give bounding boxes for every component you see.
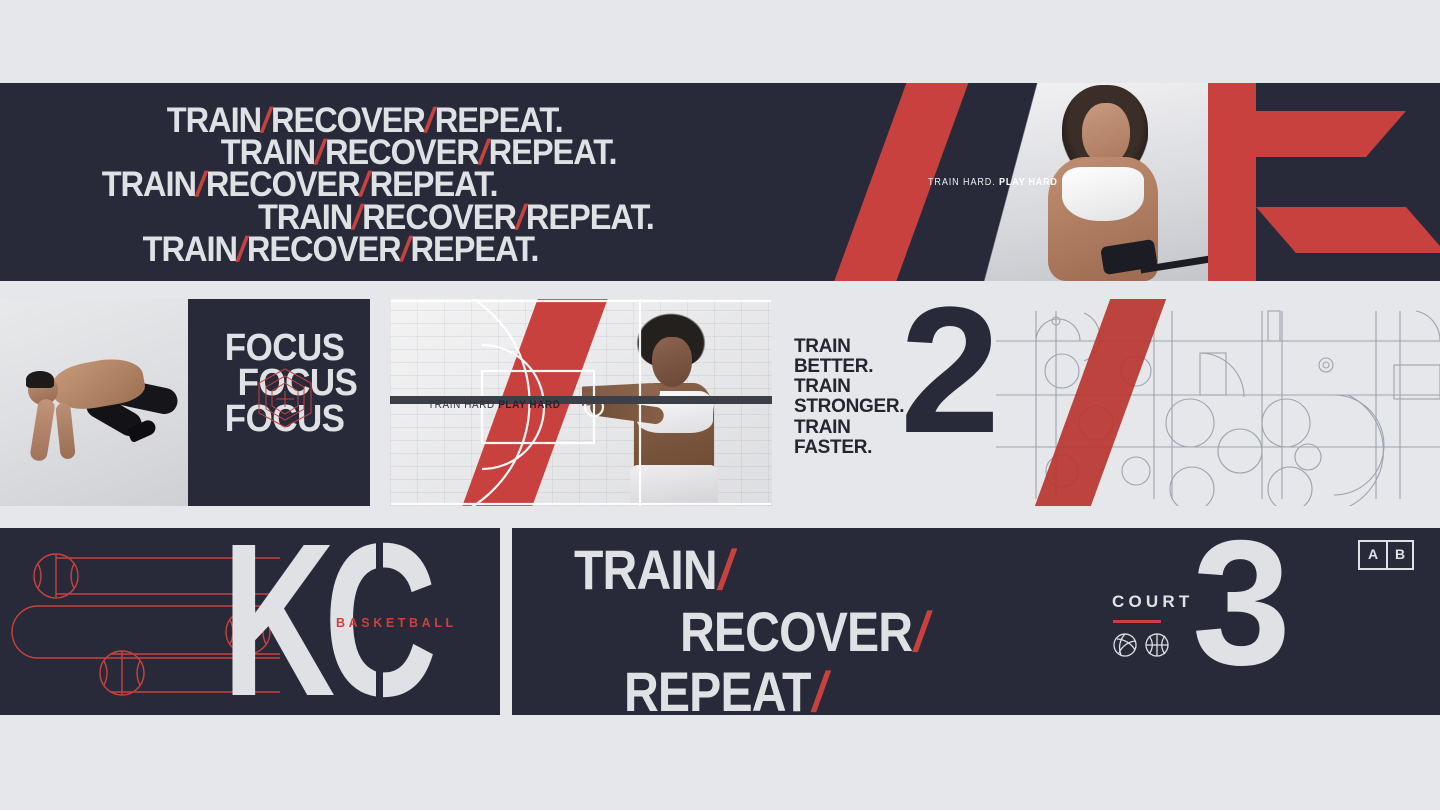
- sport-icons-group: [1112, 632, 1174, 658]
- hex-crosshair-icon: [252, 365, 318, 433]
- word-repeat: REPEAT.: [411, 230, 539, 269]
- tagline-bold: PLAY HARD: [498, 399, 560, 411]
- secondary-row: FOCUS FOCUS FOCUS: [0, 299, 1440, 506]
- badge-a: A: [1360, 542, 1386, 568]
- ab-badge: A B: [1358, 540, 1414, 570]
- trr-word: RECOVER: [680, 600, 912, 663]
- court-label-rule: [1113, 620, 1161, 623]
- slash-glyph: /: [715, 542, 739, 598]
- photo-arm-left: [29, 398, 55, 462]
- trr-word: TRAIN: [574, 538, 717, 601]
- athlete-photo-sprinter: [0, 299, 188, 506]
- photo-sports-top: [1062, 167, 1144, 221]
- kc-subtitle: BASKETBALL: [336, 616, 457, 630]
- brand-showcase-board: TRAIN/RECOVER/REPEAT. TRAIN/RECOVER/REPE…: [0, 0, 1440, 810]
- copy-line: TRAIN: [794, 418, 904, 438]
- hero-tagline: TRAIN HARD. PLAY HARD: [928, 176, 1058, 188]
- kc-basketball-panel: KC BASKETBALL: [0, 528, 500, 715]
- tagline-light: TRAIN HARD: [428, 399, 495, 411]
- hero-artwork: TRAIN HARD. PLAY HARD: [780, 83, 1440, 281]
- photo-face: [1082, 103, 1130, 165]
- word-repeat: REPEAT.: [526, 198, 654, 237]
- copy-line: FASTER.: [794, 438, 904, 458]
- trr-line: REPEAT/: [624, 664, 827, 715]
- copy-line: TRAIN: [794, 377, 904, 397]
- word-recover: RECOVER: [247, 230, 401, 269]
- court-three-group: COURT 3: [1090, 528, 1440, 715]
- logo-chevron-icon: [1256, 83, 1386, 281]
- chevron-lower-stroke: [1256, 207, 1440, 253]
- word-train: TRAIN: [143, 230, 237, 269]
- panel-number: 2: [900, 299, 993, 461]
- tagline-light: TRAIN HARD.: [928, 176, 996, 188]
- train-recover-repeat-panel: TRAIN/ RECOVER/ REPEAT/ COURT: [512, 528, 1440, 715]
- lockup-line: TRAIN/RECOVER/REPEAT.: [27, 234, 752, 266]
- focus-word: FOCUS: [188, 331, 355, 366]
- logo-bar-shape: [1208, 83, 1256, 281]
- court-tagline: TRAIN HARD PLAY HARD: [428, 399, 561, 411]
- word-train: TRAIN: [102, 165, 196, 204]
- hero-banner: TRAIN/RECOVER/REPEAT. TRAIN/RECOVER/REPE…: [0, 83, 1440, 281]
- tagline-bold: PLAY HARD: [999, 176, 1058, 188]
- trr-word: REPEAT: [624, 660, 811, 715]
- badge-b: B: [1386, 542, 1412, 568]
- copy-line: BETTER.: [794, 357, 904, 377]
- hero-type-lockup: TRAIN/RECOVER/REPEAT. TRAIN/RECOVER/REPE…: [0, 83, 780, 281]
- slash-glyph: /: [809, 664, 833, 715]
- copy-line: TRAIN: [794, 337, 904, 357]
- court-number: 3: [1192, 528, 1285, 692]
- trr-line: TRAIN/: [574, 542, 733, 598]
- copy-line: STRONGER.: [794, 397, 904, 417]
- photo-hair: [26, 371, 54, 388]
- slash-glyph: /: [910, 604, 934, 660]
- train-better-panel: TRAIN BETTER. TRAIN STRONGER. TRAIN FAST…: [782, 299, 1440, 506]
- word-repeat: REPEAT.: [489, 133, 617, 172]
- court-photo-panel: TRAIN HARD PLAY HARD: [390, 299, 772, 506]
- focus-panel: FOCUS FOCUS FOCUS: [188, 299, 370, 506]
- tertiary-row: KC BASKETBALL TRAIN/ RECOVER/ REPEAT/ CO…: [0, 528, 1440, 715]
- court-label: COURT: [1112, 592, 1193, 612]
- train-better-copy: TRAIN BETTER. TRAIN STRONGER. TRAIN FAST…: [794, 337, 904, 458]
- photo-arm-right: [55, 402, 76, 459]
- trr-line: RECOVER/: [680, 604, 928, 660]
